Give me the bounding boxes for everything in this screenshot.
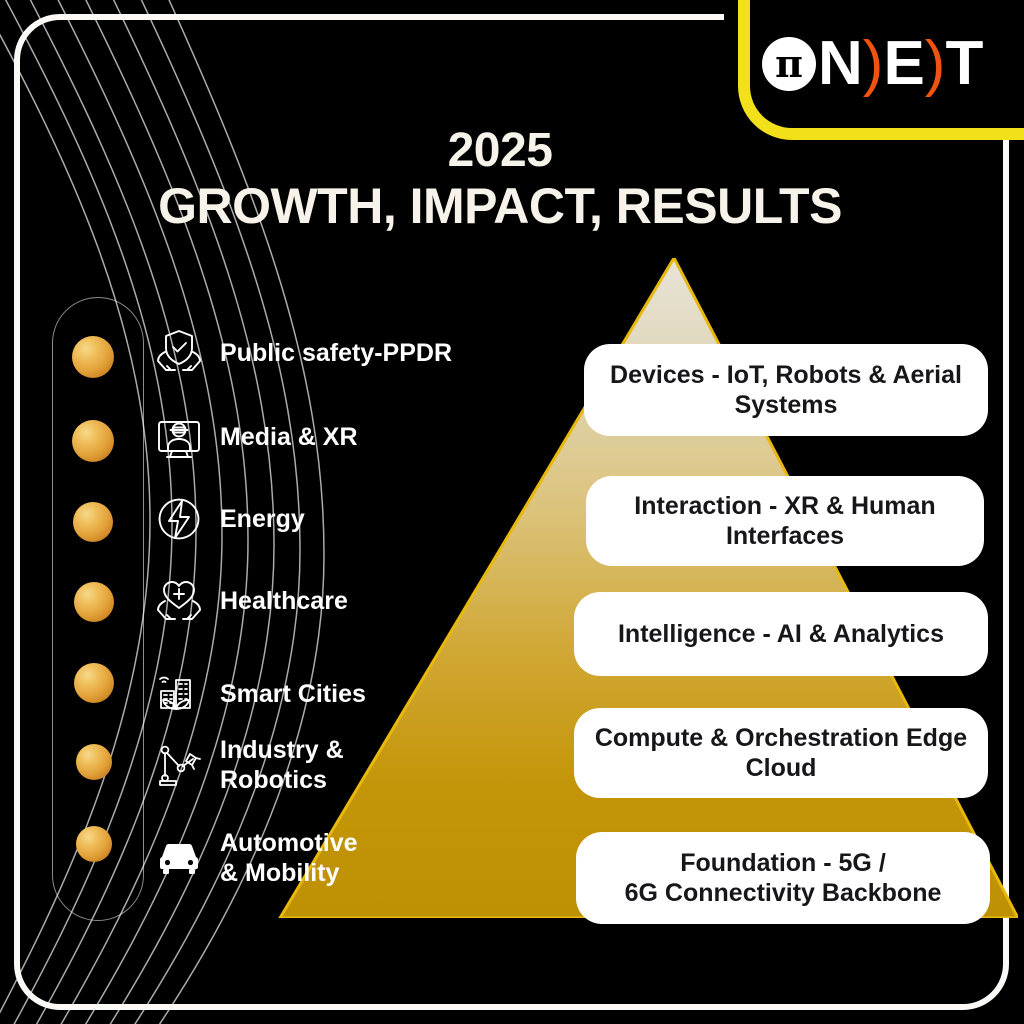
pyramid-card-foundation[interactable]: Foundation - 5G / 6G Connectivity Backbo… — [576, 832, 990, 924]
heart-cross-hands-icon — [150, 572, 208, 630]
car-front-icon — [150, 829, 208, 887]
lightning-bolt-circle-icon — [150, 490, 208, 548]
page-title: 2025 GROWTH, IMPACT, RESULTS — [0, 126, 1000, 234]
logo-letter-e: E — [883, 33, 923, 95]
robotic-arm-icon — [150, 736, 208, 794]
sector-item-energy[interactable]: Energy — [150, 490, 305, 548]
pyramid-card-interaction[interactable]: Interaction - XR & Human Interfaces — [586, 476, 984, 566]
pyramid-card-compute[interactable]: Compute & Orchestration Edge Cloud — [574, 708, 988, 798]
sector-item-label: Industry & Robotics — [220, 735, 344, 795]
pyramid-card-label: Compute & Orchestration Edge Cloud — [590, 723, 972, 784]
sector-item-label: Energy — [220, 504, 305, 534]
headline-year: 2025 — [0, 126, 1000, 177]
bullet-sphere — [72, 336, 114, 378]
pyramid-card-label: Devices - IoT, Robots & Aerial Systems — [600, 360, 972, 421]
sector-item-smart-cities[interactable]: Smart Cities — [150, 665, 366, 723]
smart-buildings-leaf-icon — [150, 665, 208, 723]
sector-item-label: Smart Cities — [220, 679, 366, 709]
bullet-sphere — [73, 502, 113, 542]
bullet-sphere — [74, 582, 114, 622]
pyramid-card-label: Intelligence - AI & Analytics — [618, 619, 944, 650]
bullet-sphere — [76, 744, 112, 780]
pyramid-card-devices[interactable]: Devices - IoT, Robots & Aerial Systems — [584, 344, 988, 436]
shield-check-hands-icon — [150, 324, 208, 382]
bullet-sphere — [74, 663, 114, 703]
logo-paren-2-icon: ) — [924, 33, 946, 95]
infographic-canvas: π N ) E ) T 2025 GROWTH, IMPACT, RESULTS… — [0, 0, 1024, 1024]
monitor-vr-person-icon — [150, 408, 208, 466]
sector-item-public-safety[interactable]: Public safety-PPDR — [150, 324, 452, 382]
bullet-sphere — [76, 826, 112, 862]
sector-item-media-xr[interactable]: Media & XR — [150, 408, 358, 466]
sector-item-automotive-mobility[interactable]: Automotive & Mobility — [150, 828, 358, 888]
brand-logo[interactable]: π N ) E ) T — [762, 28, 982, 100]
sector-item-industry-robotics[interactable]: Industry & Robotics — [150, 735, 344, 795]
pyramid-card-label: Interaction - XR & Human Interfaces — [602, 491, 968, 552]
pyramid-card-intelligence[interactable]: Intelligence - AI & Analytics — [574, 592, 988, 676]
headline-subtitle: GROWTH, IMPACT, RESULTS — [0, 179, 1000, 234]
pi-symbol-icon: π — [762, 37, 816, 91]
logo-letter-n: N — [818, 33, 862, 95]
sector-item-healthcare[interactable]: Healthcare — [150, 572, 348, 630]
sector-item-label: Healthcare — [220, 586, 348, 616]
bullet-sphere — [72, 420, 114, 462]
logo-paren-1-icon: ) — [862, 33, 884, 95]
sector-item-label: Public safety-PPDR — [220, 338, 452, 368]
sector-item-label: Automotive & Mobility — [220, 828, 358, 888]
logo-letter-t: T — [945, 33, 982, 95]
sector-item-label: Media & XR — [220, 422, 358, 452]
pyramid-card-label: Foundation - 5G / 6G Connectivity Backbo… — [625, 848, 942, 909]
